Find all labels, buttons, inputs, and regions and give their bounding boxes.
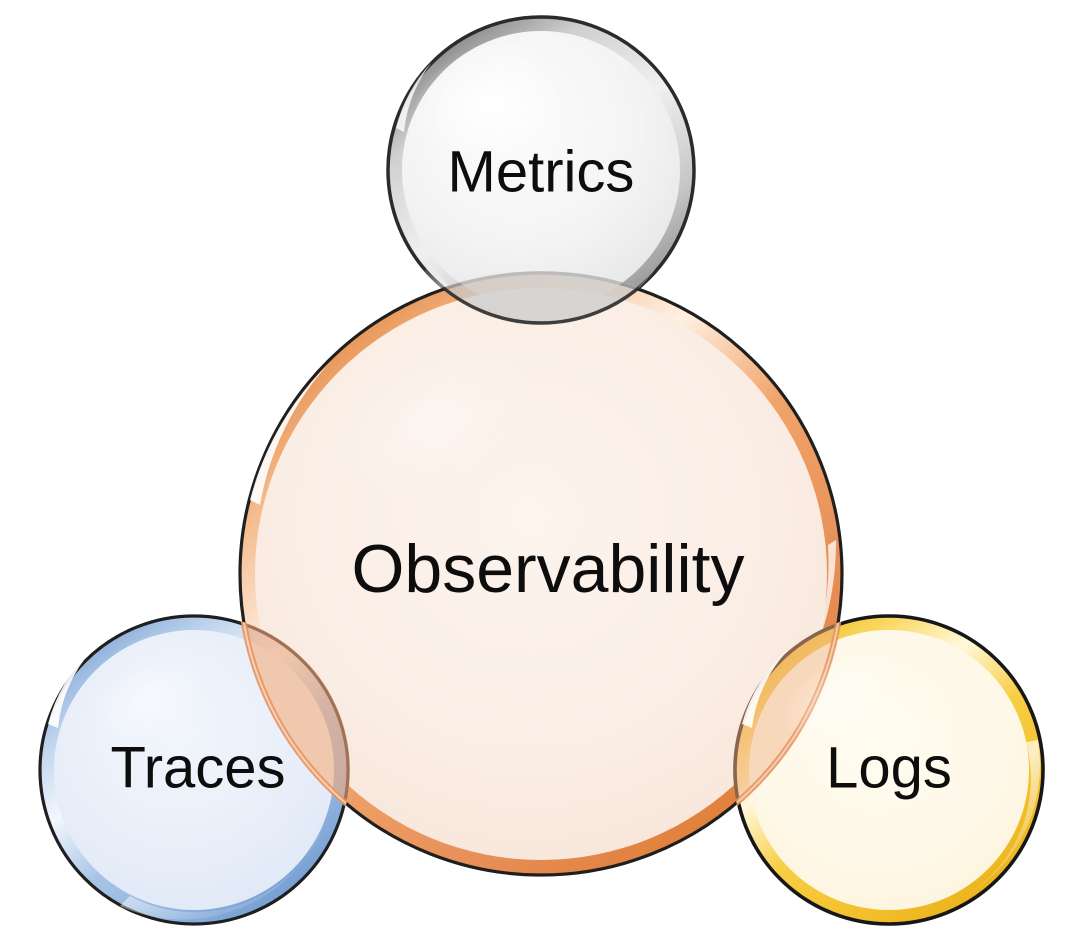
diagram-canvas: Metrics Observability (0, 0, 1082, 942)
metrics-label: Metrics (448, 139, 635, 204)
logs-label: Logs (826, 735, 952, 800)
traces-label: Traces (110, 735, 285, 800)
observability-label: Observability (351, 531, 744, 607)
observability-venn-diagram: Metrics Observability (0, 0, 1082, 942)
